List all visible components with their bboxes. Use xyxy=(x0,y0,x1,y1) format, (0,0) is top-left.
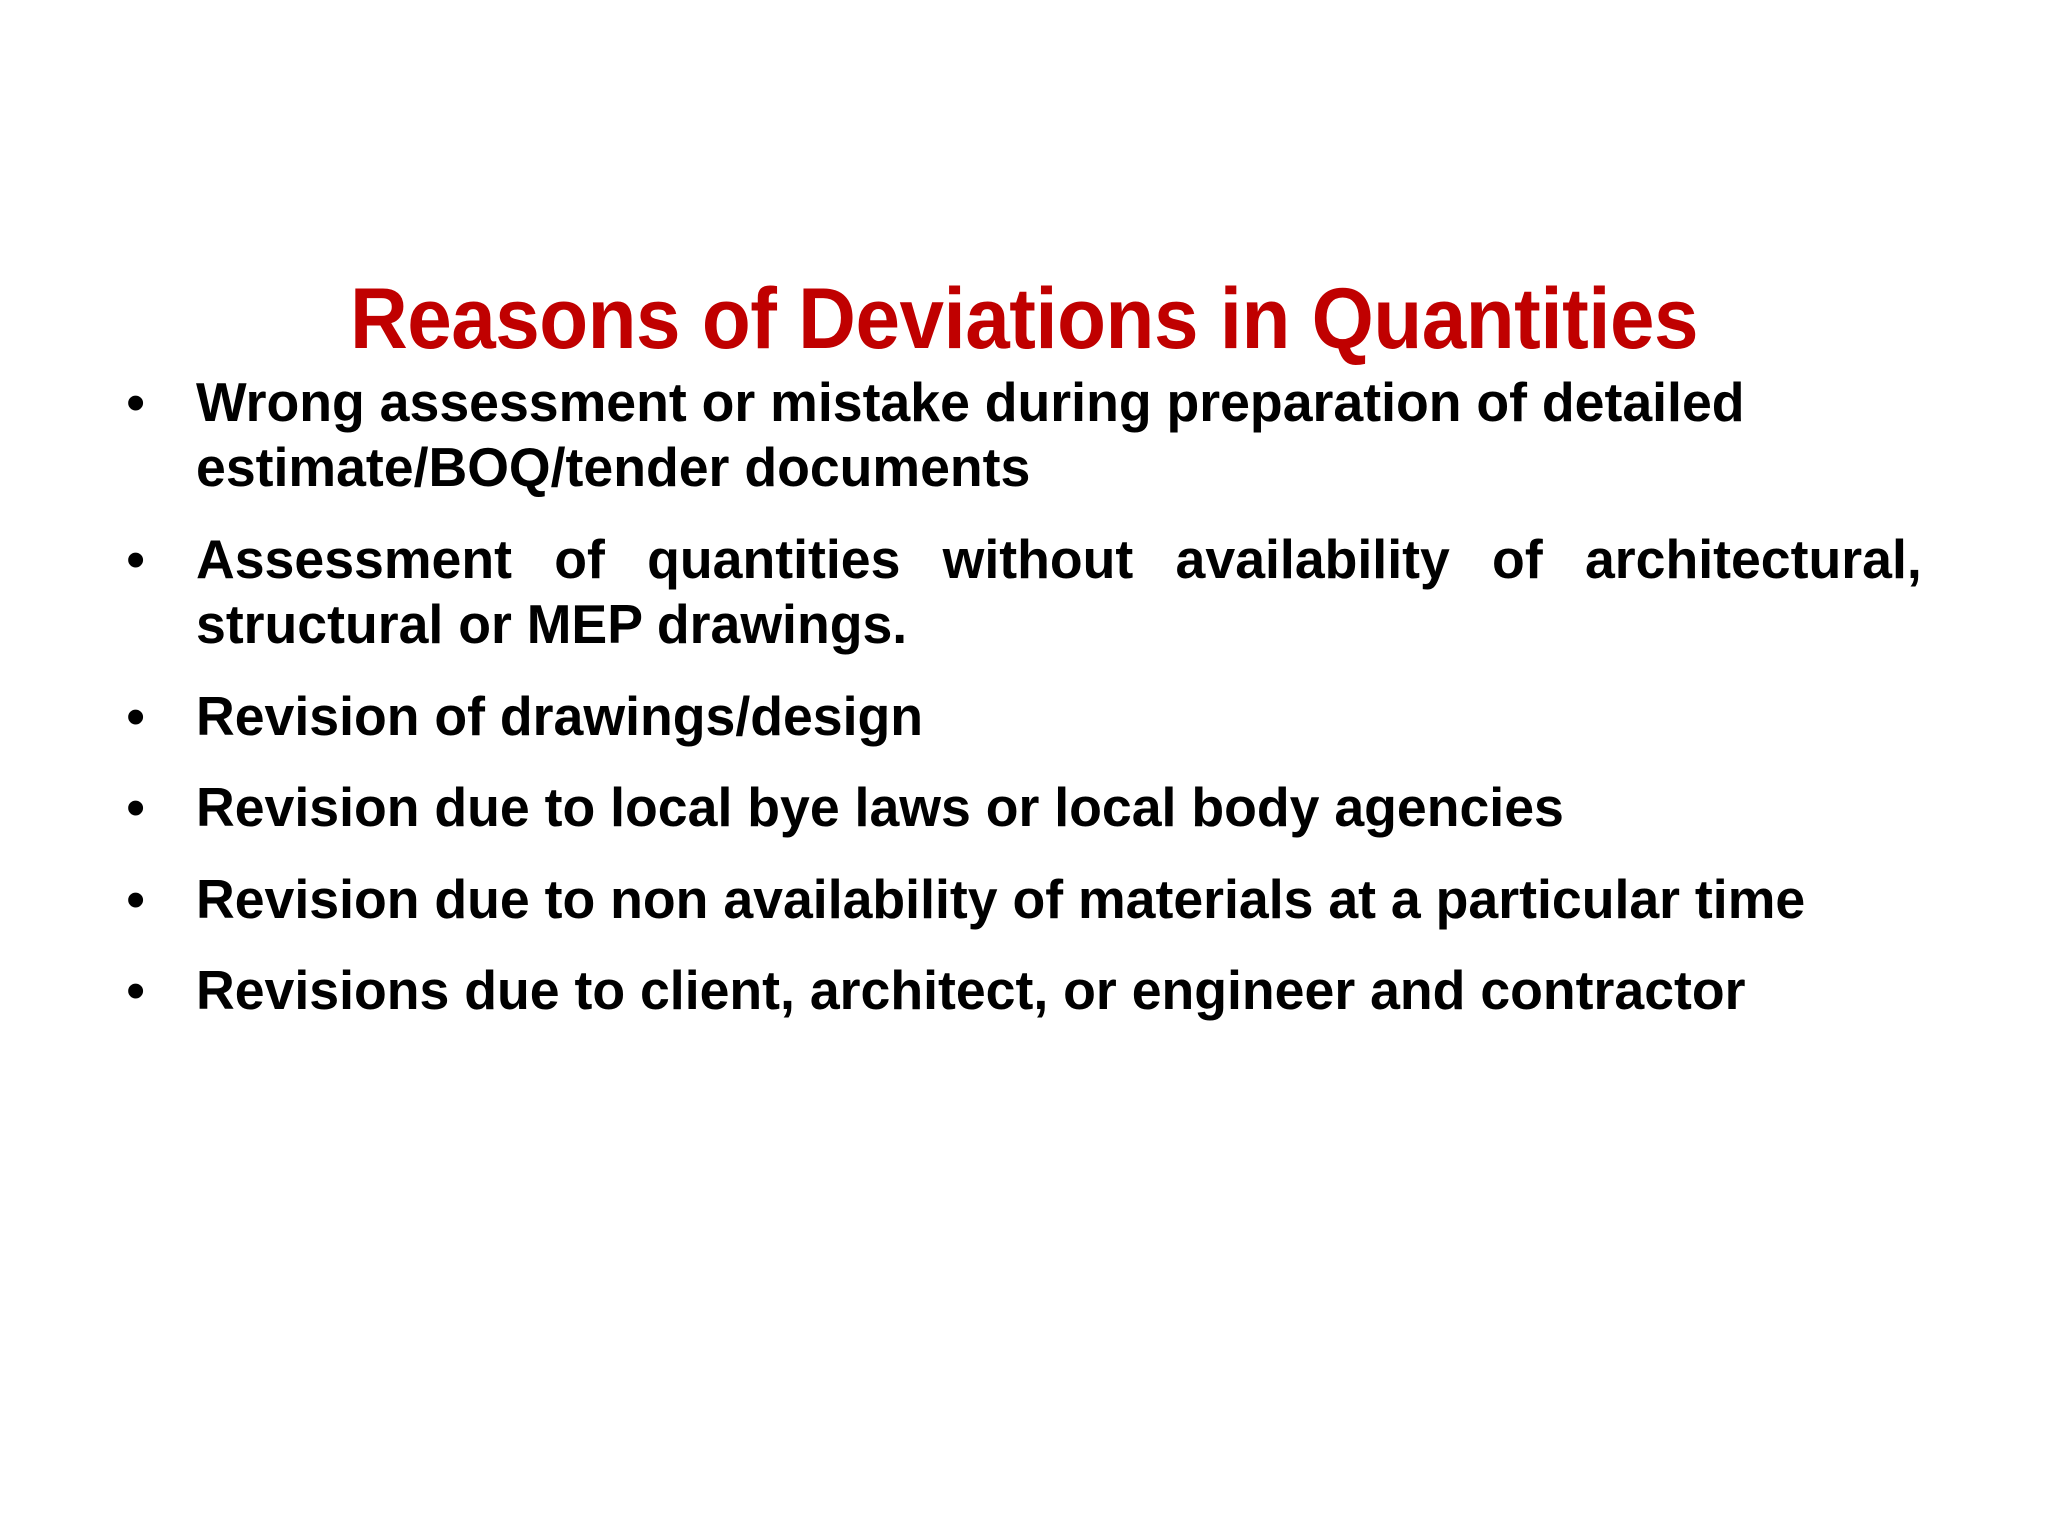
list-item: • Revision due to non availability of ma… xyxy=(104,867,1966,932)
bullet-point-icon: • xyxy=(126,958,166,1023)
bullet-point-icon: • xyxy=(126,684,166,749)
list-item-text: Revision of drawings/design xyxy=(196,684,1922,749)
bullet-list: • Wrong assessment or mistake during pre… xyxy=(104,370,1966,1050)
bullet-point-icon: • xyxy=(126,370,166,435)
page-title: Reasons of Deviations in Quantities xyxy=(72,276,1977,362)
list-item: • Revision of drawings/design xyxy=(104,684,1966,749)
list-item: • Revision due to local bye laws or loca… xyxy=(104,775,1966,840)
list-item-text: Wrong assessment or mistake during prepa… xyxy=(196,370,1922,501)
list-item-text: Revision due to non availability of mate… xyxy=(196,867,1922,932)
bullet-point-icon: • xyxy=(126,867,166,932)
list-item-text: Revision due to local bye laws or local … xyxy=(196,775,1922,840)
slide-canvas: Reasons of Deviations in Quantities • Wr… xyxy=(0,0,2048,1536)
list-item: • Wrong assessment or mistake during pre… xyxy=(104,370,1966,501)
bullet-point-icon: • xyxy=(126,527,166,592)
bullet-point-icon: • xyxy=(126,775,166,840)
list-item-text: Assessment of quantities without availab… xyxy=(196,527,1922,658)
list-item: • Assessment of quantities without avail… xyxy=(104,527,1966,658)
list-item: • Revisions due to client, architect, or… xyxy=(104,958,1966,1023)
list-item-text: Revisions due to client, architect, or e… xyxy=(196,958,1922,1023)
